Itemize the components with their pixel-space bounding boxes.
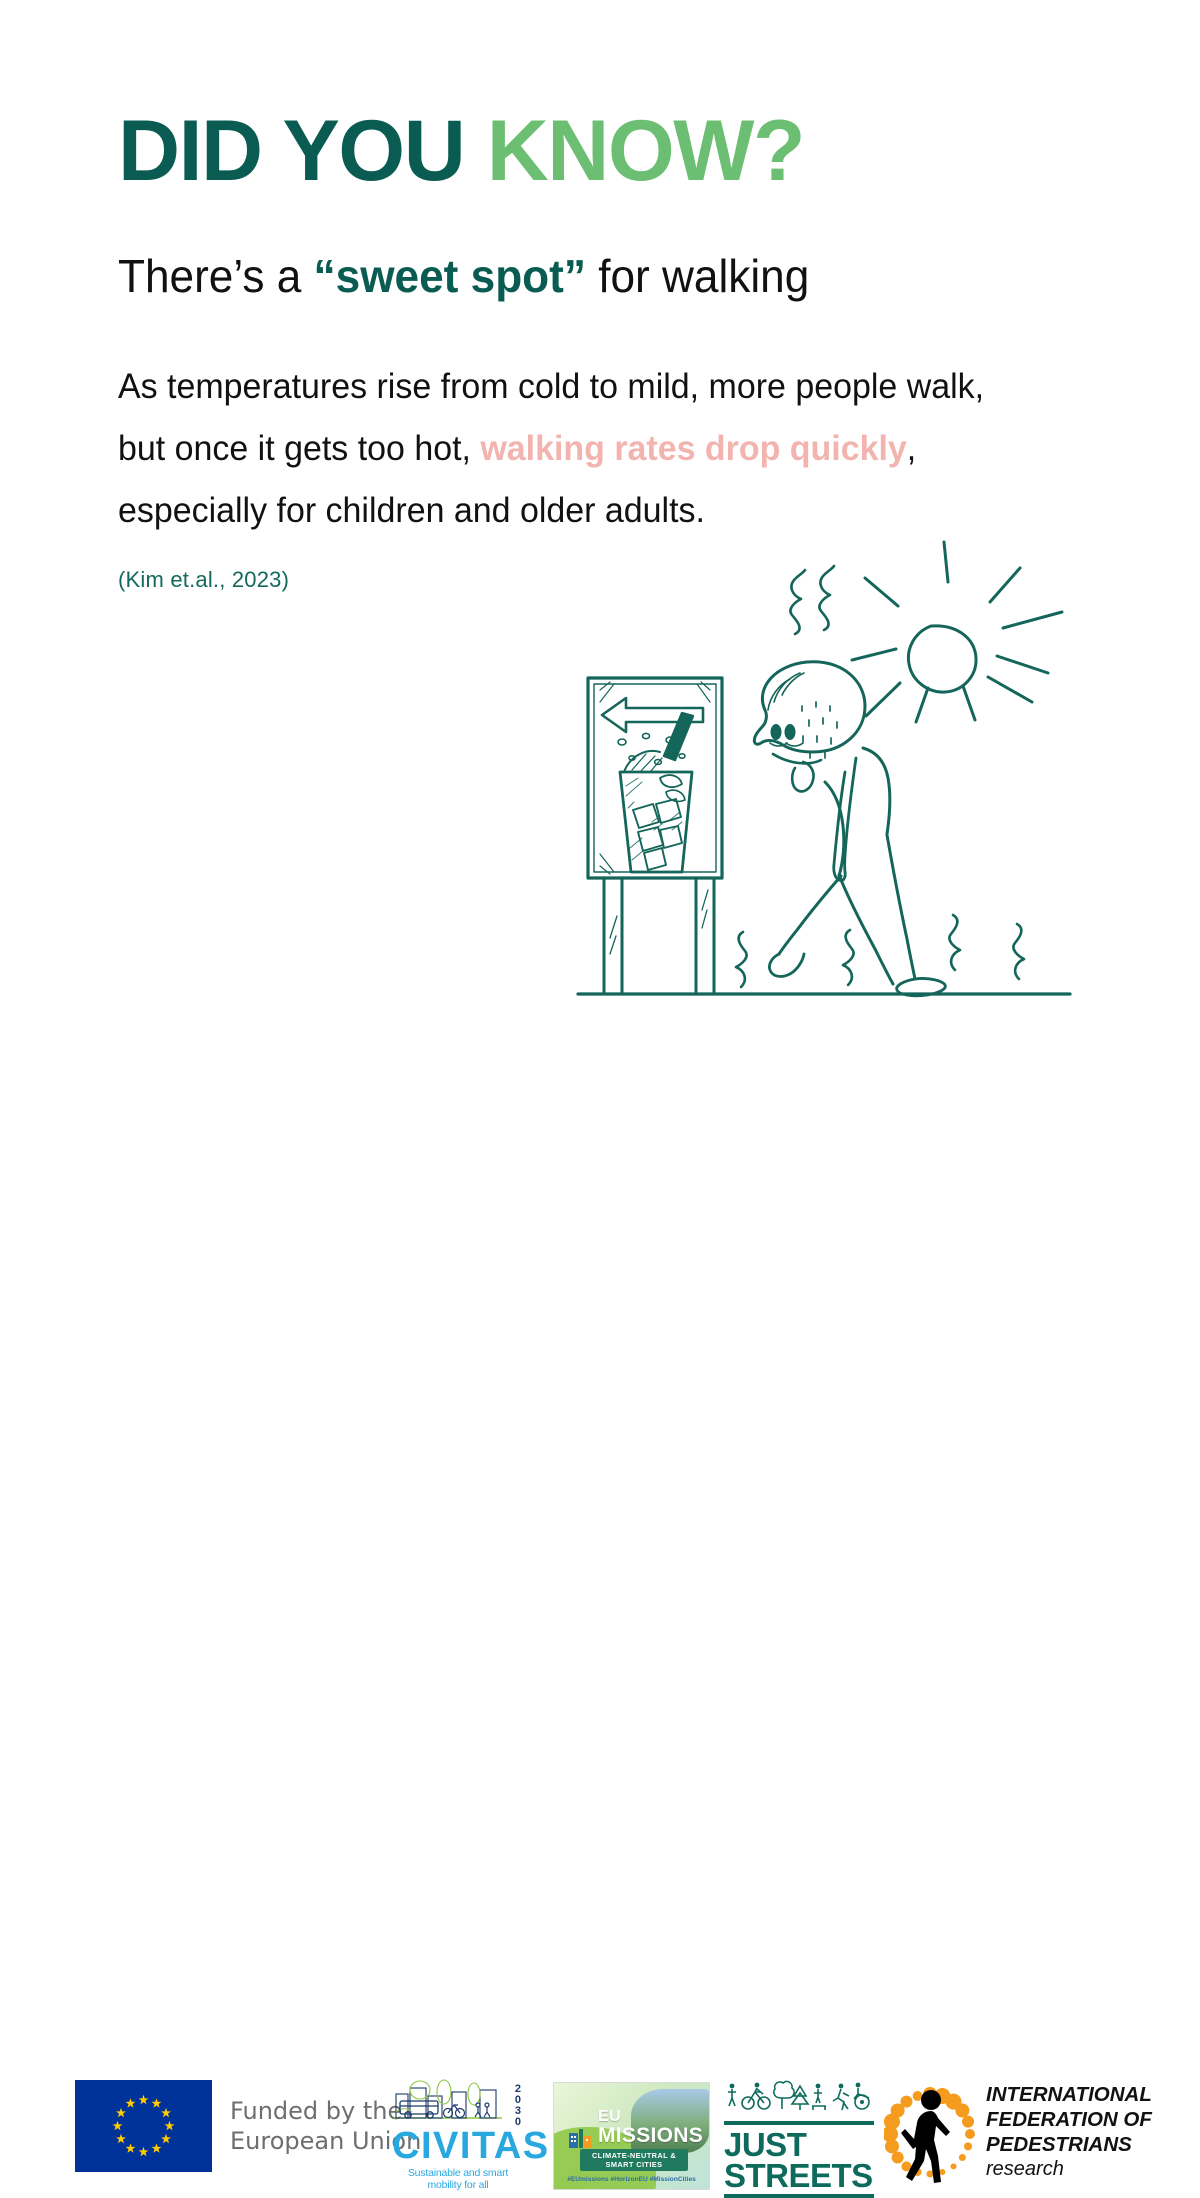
body-line-2-before: but once it gets too hot, — [118, 429, 480, 468]
civitas-year: 2030 — [515, 2084, 522, 2128]
eu-funding-logo: Funded by the European Union — [75, 2080, 421, 2172]
just-streets-wordmark: JUST STREETS — [724, 2129, 874, 2191]
ifp-wordmark: INTERNATIONAL FEDERATION OF PEDESTRIANS … — [986, 2082, 1152, 2182]
subtitle: There’s a “sweet spot” for walking — [118, 252, 809, 300]
ifp-line-1: INTERNATIONAL — [986, 2082, 1152, 2107]
body-line-2-after: , — [907, 429, 916, 468]
civitas-wordmark: CIVITAS — [392, 2127, 524, 2165]
illustration — [560, 530, 1100, 1010]
just-streets-logo: JUST STREETS — [724, 2080, 874, 2198]
headline-light-part: KNOW? — [487, 103, 804, 199]
missions-building-icon — [568, 2127, 592, 2149]
body-line-2-accent: walking rates drop quickly — [480, 429, 906, 468]
just-streets-icon-row — [724, 2080, 874, 2114]
just-streets-line-1: JUST — [724, 2129, 874, 2160]
iced-drink-icon — [620, 751, 692, 872]
body-line-1: As temperatures rise from cold to mild, … — [118, 356, 1098, 418]
just-streets-line-2: STREETS — [724, 2160, 874, 2191]
headline-dark-part: DID YOU — [118, 103, 487, 199]
just-streets-bottom-rule — [724, 2194, 874, 2198]
sun-icon — [852, 542, 1062, 722]
heat-wave-icon — [790, 566, 834, 634]
eu-flag-icon — [75, 2080, 212, 2172]
body-line-2: but once it gets too hot, walking rates … — [118, 418, 1098, 480]
bench-icon — [812, 2084, 826, 2110]
subtitle-after: for walking — [586, 250, 809, 302]
ifp-line-2: FEDERATION OF — [986, 2107, 1152, 2132]
subtitle-before: There’s a — [118, 250, 314, 302]
tree-icon — [774, 2081, 794, 2109]
footer-logo-strip: Funded by the European Union — [0, 1036, 1200, 1166]
citation: (Kim et.al., 2023) — [118, 567, 289, 593]
subtitle-accent: “sweet spot” — [314, 250, 586, 302]
just-streets-top-rule — [724, 2121, 874, 2125]
civitas-cityscape-icon — [392, 2078, 524, 2122]
ifp-logo: INTERNATIONAL FEDERATION OF PEDESTRIANS … — [884, 2078, 1152, 2186]
missions-eu-label: EU — [598, 2109, 621, 2125]
page-title: DID YOU KNOW? — [118, 108, 804, 194]
pedestrian-icon — [728, 2084, 736, 2106]
civitas-logo: 2030 CIVITAS Sustainable and smart mobil… — [392, 2078, 524, 2191]
ifp-line-3: PEDESTRIANS — [986, 2132, 1152, 2157]
cyclist-icon — [742, 2083, 770, 2109]
civitas-tagline: Sustainable and smart mobility for all — [392, 2167, 524, 2191]
runner-icon — [833, 2084, 849, 2110]
missions-hashtags: #EUmissions #HorizonEU #MissionCities — [554, 2176, 709, 2183]
body-paragraph: As temperatures rise from cold to mild, … — [118, 356, 1098, 542]
eu-missions-logo: EU MISSIONS CLIMATE-NEUTRAL & SMART CITI… — [553, 2082, 710, 2190]
missions-wordmark: MISSIONS — [598, 2125, 703, 2146]
poster-board-icon — [588, 678, 722, 992]
missions-subtitle: CLIMATE-NEUTRAL & SMART CITIES — [580, 2149, 688, 2171]
ifp-walking-person-icon — [884, 2078, 976, 2186]
wheelchair-icon — [854, 2083, 869, 2109]
ifp-line-4: research — [986, 2157, 1152, 2182]
